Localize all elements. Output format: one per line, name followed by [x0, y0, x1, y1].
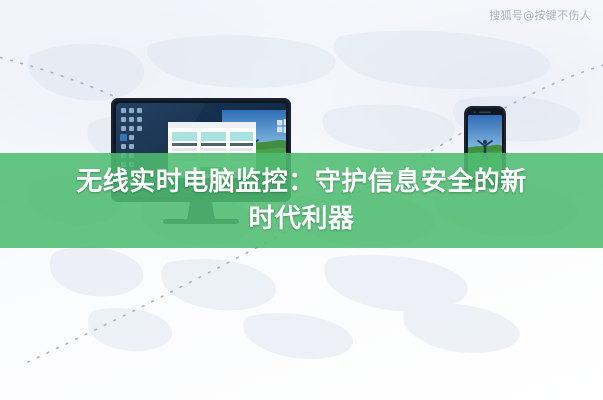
- screenshot-canvas: 无线实时电脑监控：守护信息安全的新 时代利器 搜狐号@按键不伤人: [0, 0, 603, 400]
- page-title: 无线实时电脑监控：守护信息安全的新 时代利器: [26, 164, 577, 238]
- headline-banner: 无线实时电脑监控：守护信息安全的新 时代利器: [0, 153, 603, 248]
- watermark-label: 搜狐号@按键不伤人: [489, 7, 591, 23]
